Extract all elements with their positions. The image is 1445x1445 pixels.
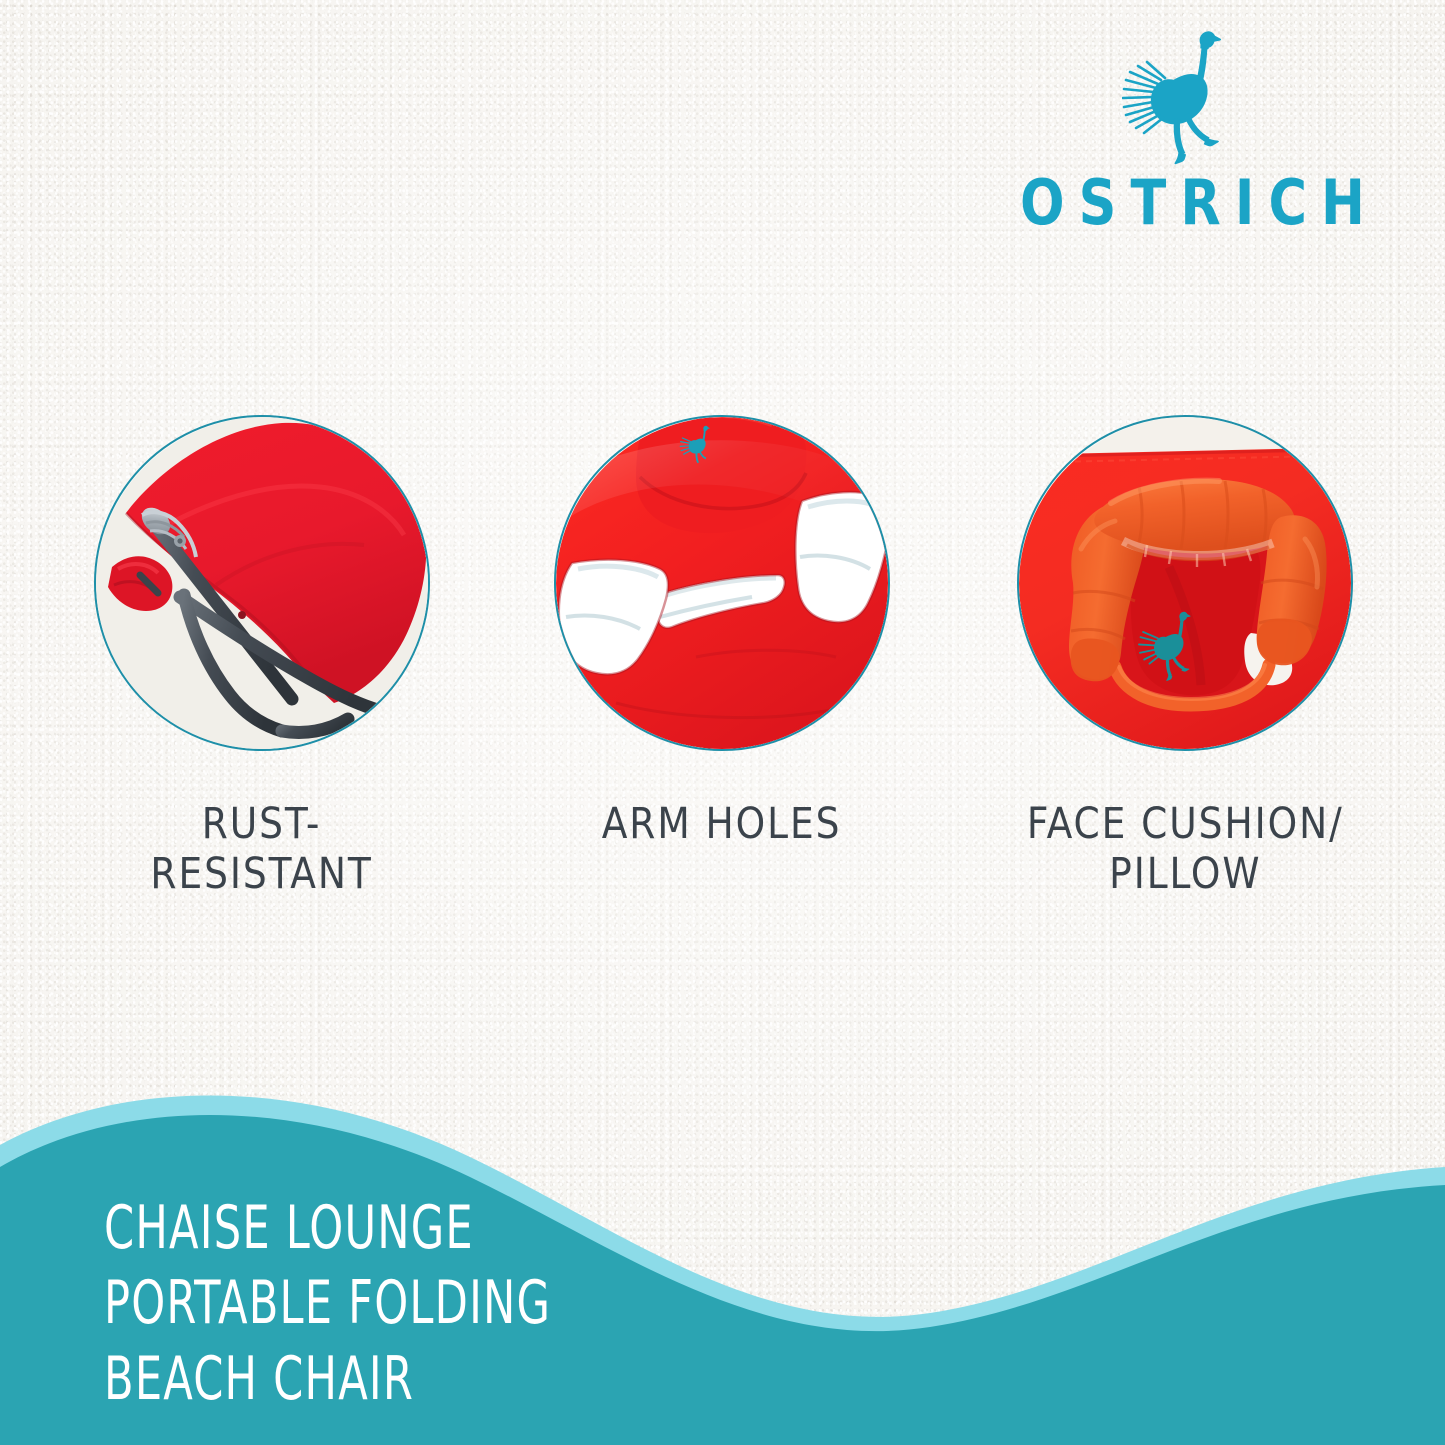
feature-image-rust-resistant: [94, 415, 430, 751]
bottom-wave-banner: CHAISE LOUNGE PORTABLE FOLDING BEACH CHA…: [0, 1085, 1445, 1445]
arm-holes-illustration: [556, 417, 888, 749]
feature-caption-arm-holes: ARM HOLES: [602, 799, 842, 849]
brand-wordmark: OSTRICH: [1005, 172, 1378, 234]
ostrich-bird-icon: [1122, 22, 1262, 170]
product-title-block: CHAISE LOUNGE PORTABLE FOLDING BEACH CHA…: [104, 1191, 551, 1417]
face-cushion-illustration: [1019, 417, 1351, 749]
product-title-line-1: CHAISE LOUNGE: [104, 1191, 551, 1266]
feature-image-face-cushion: [1017, 415, 1353, 751]
product-feature-infographic: OSTRICH: [0, 0, 1445, 1445]
product-title-line-2: PORTABLE FOLDING: [104, 1266, 551, 1341]
feature-item-rust-resistant: RUST- RESISTANT: [32, 415, 492, 900]
feature-item-arm-holes: ARM HOLES: [492, 415, 952, 849]
chair-frame-illustration: [96, 417, 428, 749]
feature-image-arm-holes: [554, 415, 890, 751]
product-title-line-3: BEACH CHAIR: [104, 1342, 551, 1417]
brand-logo: OSTRICH: [1002, 22, 1382, 252]
feature-caption-face-cushion: FACE CUSHION/ PILLOW: [1027, 799, 1344, 900]
feature-list: RUST- RESISTANT: [0, 415, 1445, 935]
feature-caption-rust-resistant: RUST- RESISTANT: [151, 799, 373, 900]
feature-item-face-cushion: FACE CUSHION/ PILLOW: [955, 415, 1415, 900]
